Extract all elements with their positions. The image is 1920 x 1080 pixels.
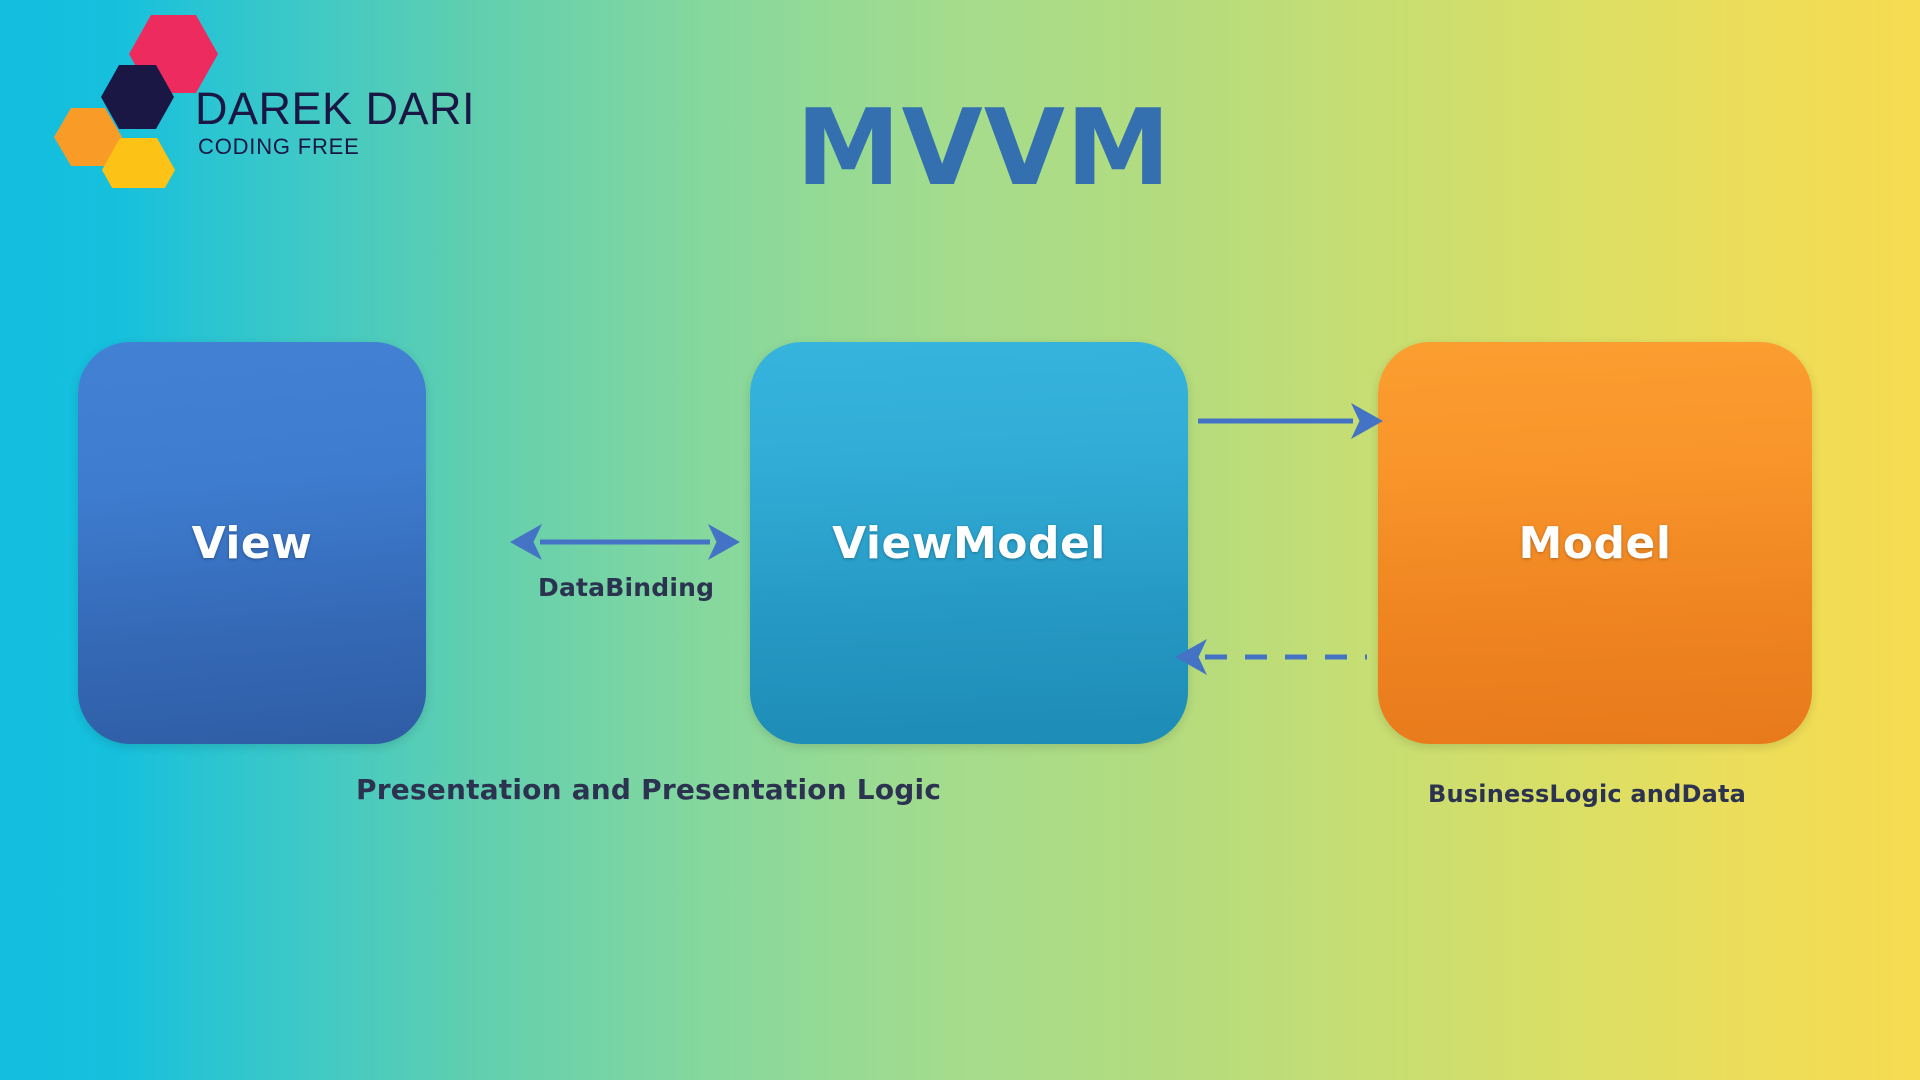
arrow-viewmodel-to-model bbox=[1185, 400, 1385, 442]
node-label-view: View bbox=[192, 518, 313, 569]
caption-view-viewmodel: Presentation and Presentation Logic bbox=[356, 776, 941, 804]
logo-tagline: CODING FREE bbox=[198, 136, 360, 158]
diagram-node-model[interactable]: Model bbox=[1378, 342, 1812, 744]
slide-canvas: DAREK DARI CODING FREE MVVM View ViewMod… bbox=[0, 0, 1920, 1080]
brand-logo: DAREK DARI CODING FREE bbox=[50, 8, 510, 188]
diagram-node-view[interactable]: View bbox=[78, 342, 426, 744]
arrow-databinding bbox=[520, 515, 730, 575]
logo-wordmark: DAREK DARI bbox=[195, 86, 475, 131]
page-title: MVVM bbox=[796, 96, 1172, 201]
edge-label-databinding: DataBinding bbox=[538, 575, 714, 600]
caption-model: BusinessLogic andData bbox=[1428, 782, 1746, 806]
arrow-model-to-viewmodel bbox=[1185, 636, 1385, 678]
node-label-model: Model bbox=[1519, 518, 1672, 569]
diagram-node-viewmodel[interactable]: ViewModel bbox=[750, 342, 1188, 744]
node-label-viewmodel: ViewModel bbox=[832, 518, 1106, 569]
